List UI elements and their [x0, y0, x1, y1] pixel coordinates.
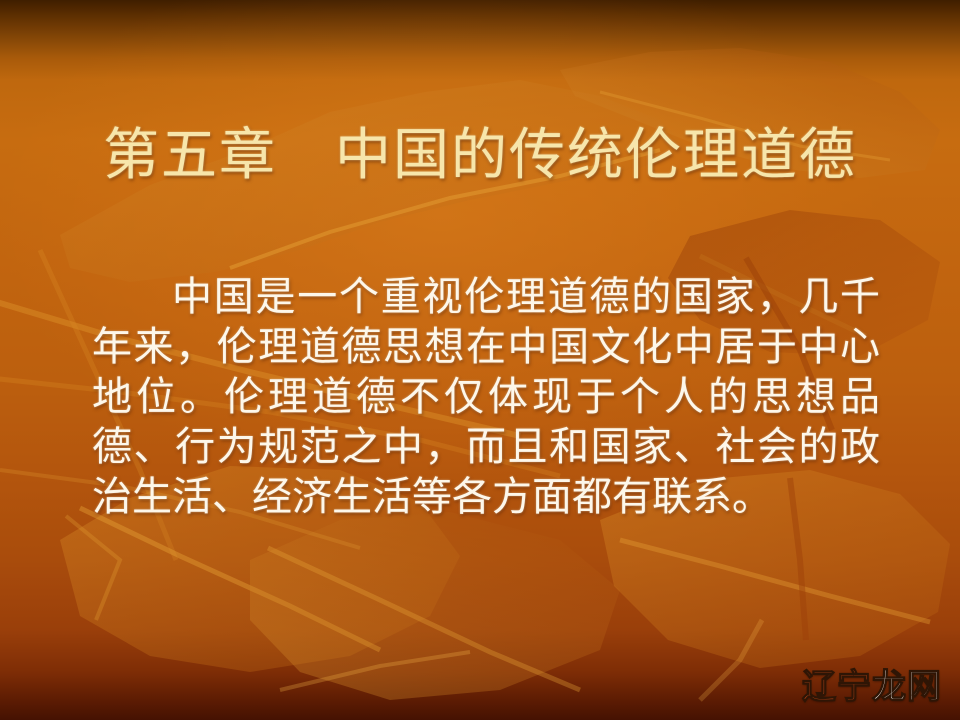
leaf-shape-lower-centre: [250, 512, 620, 700]
leaf-vein-lower-right: [620, 540, 930, 622]
leaf-highlight-bottom-1: [280, 652, 470, 690]
slide-body-paragraph: 中国是一个重视伦理道德的国家，几千年来，伦理道德思想在中国文化中居于中心地位。伦…: [92, 272, 880, 522]
watermark-text-secondary: 龙网: [872, 667, 942, 707]
leaf-vein-lower-centre: [268, 548, 580, 690]
slide-title: 第五章 中国的传统伦理道德: [0, 128, 960, 184]
leaf-vein-lower-left: [80, 508, 380, 650]
leaf-highlight-bottom-2: [700, 620, 762, 700]
watermark-text-primary: 辽宁: [802, 667, 872, 707]
watermark: 辽宁龙网: [802, 670, 942, 704]
leaf-vein-lower-left-2: [66, 516, 120, 620]
presentation-slide: 第五章 中国的传统伦理道德 中国是一个重视伦理道德的国家，几千年来，伦理道德思想…: [0, 0, 960, 720]
